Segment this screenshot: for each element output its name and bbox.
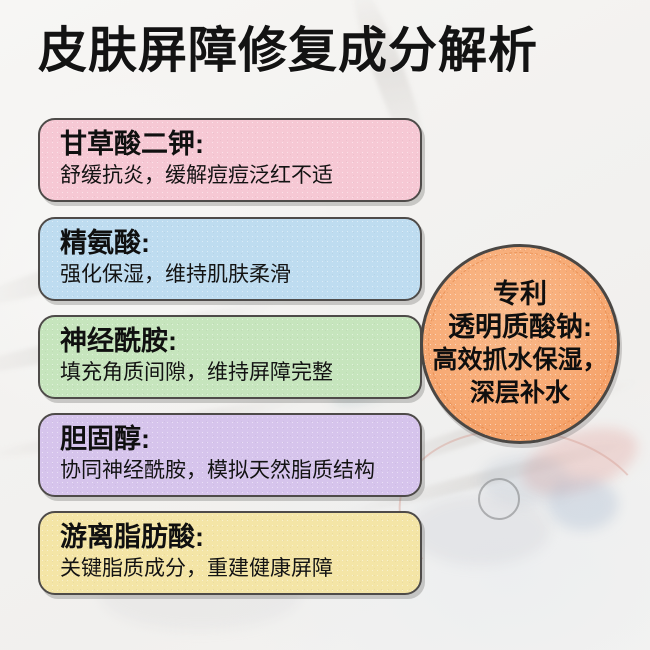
ingredient-card-glycyrrhizate[interactable]: 甘草酸二钾: 舒缓抗炎，缓解痘痘泛红不适 bbox=[38, 118, 422, 202]
highlight-line-patent: 专利 bbox=[493, 278, 547, 311]
background-arc-icon bbox=[387, 413, 650, 621]
highlight-line-name: 透明质酸钠: bbox=[448, 311, 592, 344]
ingredient-name: 胆固醇: bbox=[60, 422, 406, 456]
ingredient-name: 精氨酸: bbox=[60, 226, 406, 260]
background-blob-blue-2 bbox=[480, 455, 570, 505]
ingredient-card-cholesterol[interactable]: 胆固醇: 协同神经酰胺，模拟天然脂质结构 bbox=[38, 413, 422, 497]
ingredient-name: 神经酰胺: bbox=[60, 324, 406, 358]
ingredient-name: 游离脂肪酸: bbox=[60, 520, 406, 554]
background-blob-grey-1 bbox=[410, 495, 550, 565]
ingredient-description: 强化保湿，维持肌肤柔滑 bbox=[60, 260, 406, 290]
highlight-line-benefit-1: 高效抓水保湿， bbox=[432, 344, 607, 377]
background-ring-icon bbox=[478, 478, 520, 520]
ingredient-description: 舒缓抗炎，缓解痘痘泛红不适 bbox=[60, 161, 406, 191]
background-blob-blue-1 bbox=[548, 478, 618, 530]
ingredient-card-arginine[interactable]: 精氨酸: 强化保湿，维持肌肤柔滑 bbox=[38, 217, 422, 301]
highlight-line-benefit-2: 深层补水 bbox=[470, 377, 570, 410]
ingredient-description: 关键脂质成分，重建健康屏障 bbox=[60, 554, 406, 584]
page-title: 皮肤屏障修复成分解析 bbox=[38, 22, 538, 80]
ingredient-name: 甘草酸二钾: bbox=[60, 127, 406, 161]
ingredient-card-free-fatty-acid[interactable]: 游离脂肪酸: 关键脂质成分，重建健康屏障 bbox=[38, 511, 422, 595]
poster-canvas: 皮肤屏障修复成分解析 甘草酸二钾: 舒缓抗炎，缓解痘痘泛红不适 精氨酸: 强化保… bbox=[0, 0, 650, 650]
ingredient-card-ceramide[interactable]: 神经酰胺: 填充角质间隙，维持屏障完整 bbox=[38, 315, 422, 399]
highlight-circle-sodium-hyaluronate[interactable]: 专利 透明质酸钠: 高效抓水保湿， 深层补水 bbox=[420, 244, 620, 444]
ingredient-description: 填充角质间隙，维持屏障完整 bbox=[60, 358, 406, 388]
ingredient-description: 协同神经酰胺，模拟天然脂质结构 bbox=[60, 456, 406, 486]
